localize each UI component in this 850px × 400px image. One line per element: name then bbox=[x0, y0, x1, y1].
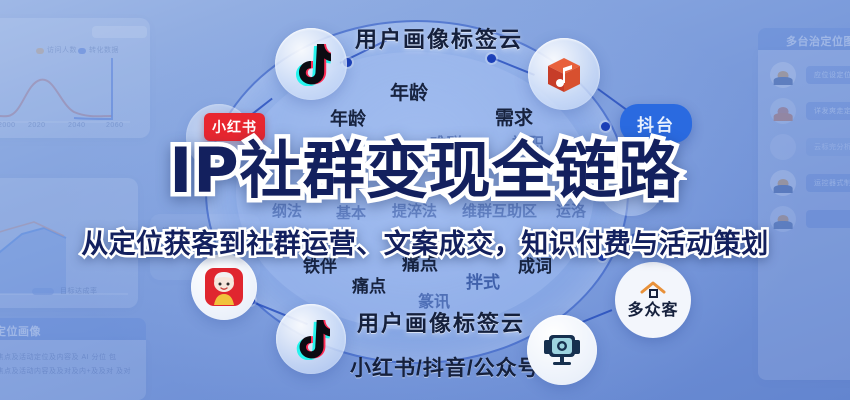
bg-xtick-3: 2040 bbox=[68, 122, 86, 129]
camera-monitor-icon bbox=[541, 331, 583, 369]
bg-avatar-1 bbox=[770, 62, 796, 88]
word-cloud-tag: 需求 bbox=[495, 103, 533, 130]
node-music-box[interactable] bbox=[528, 38, 600, 110]
tiktok-note-icon bbox=[291, 42, 331, 86]
node-douyin-bottom[interactable] bbox=[276, 304, 346, 374]
bg-xtick-4: 2060 bbox=[106, 122, 124, 129]
bg-left-panel-row-2: 为知识焦点及活动内容及及对及内+及及对 及对 bbox=[0, 366, 131, 376]
word-cloud-tag: 痛点 bbox=[352, 272, 386, 297]
word-cloud-tag: 年龄 bbox=[330, 105, 366, 131]
word-cloud-tag: 年龄 bbox=[390, 78, 428, 105]
music-box-icon bbox=[542, 52, 586, 96]
orbit-dot-4 bbox=[601, 122, 610, 131]
bg-row-label-2: 详发爽走定 bbox=[814, 106, 850, 116]
word-cloud-tag: 拌式 bbox=[466, 268, 500, 293]
node-xiaohongshu-app[interactable] bbox=[191, 254, 257, 320]
bg-xtick-2: 2020 bbox=[28, 122, 46, 129]
bg-left-panel-title: 聚焦定位画像 bbox=[0, 323, 41, 339]
ring-title-bottom: 用户画像标签云 bbox=[357, 306, 525, 338]
poster-canvas: 访问人数 转化数据 2000 2020 2040 2060 目标达成率 ACD的… bbox=[0, 0, 850, 400]
bg-row-label-1: 应位设定位 bbox=[814, 70, 850, 80]
xiaohongshu-app-icon bbox=[204, 267, 244, 307]
orbit-dot-3 bbox=[487, 54, 496, 63]
bg-right-panel-title: 多台治定位图 bbox=[786, 33, 850, 49]
page-subtitle: 从定位获客到社群运营、文案成交，知识付费与活动策划 bbox=[81, 222, 769, 261]
node-douyin-top[interactable] bbox=[275, 28, 347, 100]
bg-xtick-1: 2000 bbox=[0, 122, 16, 129]
bg-area-legend bbox=[32, 288, 54, 295]
bg-avatar-2 bbox=[770, 98, 796, 124]
node-camera[interactable] bbox=[527, 315, 597, 385]
bg-line-chart-svg bbox=[0, 18, 150, 138]
bg-left-panel-row-1: 为知识焦点及活动定位及内容及 AI 分位 包 bbox=[0, 352, 116, 362]
badge-duozhongke[interactable]: 多众客 bbox=[615, 262, 691, 338]
ring-title-top: 用户画像标签云 bbox=[355, 22, 523, 54]
page-title: IP社群变现全链路 bbox=[169, 140, 681, 202]
badge-duozhongke-label: 多众客 bbox=[627, 296, 678, 320]
main-title-wrap: IP社群变现全链路 bbox=[0, 140, 850, 202]
main-subtitle-wrap: 从定位获客到社群运营、文案成交，知识付费与活动策划 bbox=[0, 222, 850, 261]
tiktok-note-icon bbox=[292, 318, 330, 360]
bg-area-legend-label: 目标达成率 bbox=[60, 286, 98, 296]
ring-sub-bottom: 小红书/抖音/公众号 bbox=[350, 352, 540, 382]
